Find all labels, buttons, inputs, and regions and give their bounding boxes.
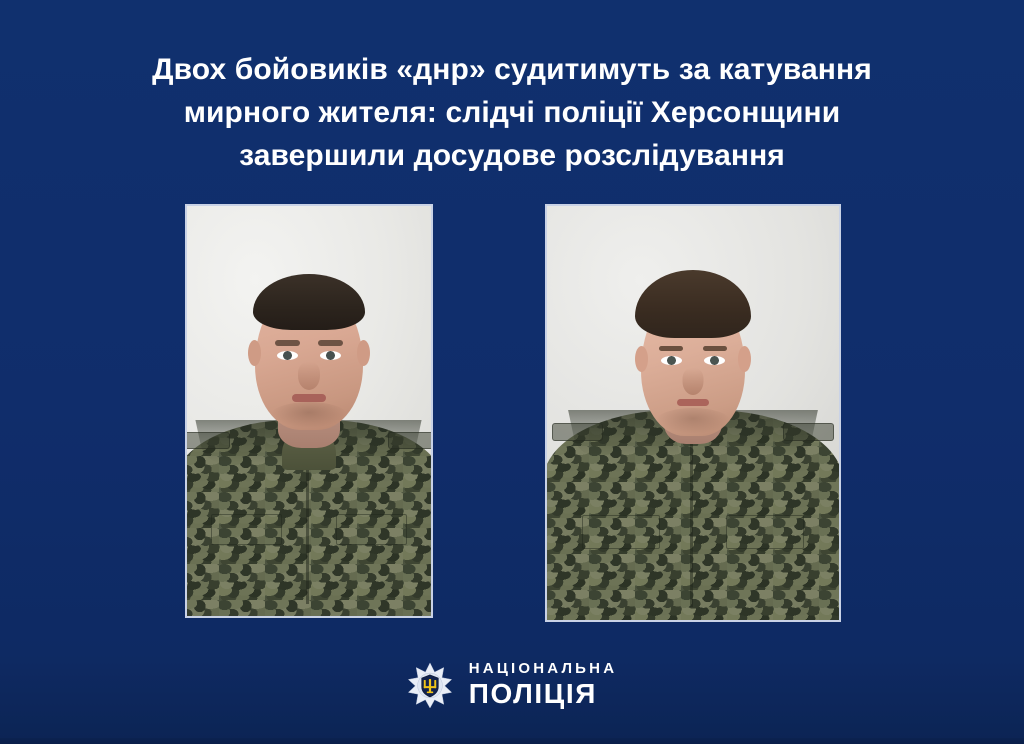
- eyebrow-left: [659, 346, 683, 351]
- suspect-photo-right: [545, 204, 841, 622]
- nose: [683, 368, 704, 395]
- eyebrow-left: [275, 340, 300, 346]
- jaw-shadow: [656, 408, 730, 434]
- ear-left: [248, 340, 261, 366]
- uniform-pocket-left: [582, 515, 660, 549]
- photo-right-content: [547, 206, 839, 620]
- suspect-photo-row: [0, 204, 1024, 624]
- national-police-logo: НАЦІОНАЛЬНА ПОЛІЦІЯ: [0, 661, 1024, 708]
- ear-right: [738, 346, 751, 372]
- police-star-badge-icon: [407, 662, 453, 708]
- suspect-photo-left: [185, 204, 433, 618]
- mouth: [677, 399, 709, 406]
- ear-right: [357, 340, 370, 366]
- jaw-shadow: [271, 402, 347, 428]
- eyebrow-right: [703, 346, 727, 351]
- mouth: [292, 394, 326, 402]
- poster-canvas: Двох бойовиків «днр» судитимуть за катув…: [0, 0, 1024, 744]
- headline-line-2: мирного жителя: слідчі поліції Херсонщин…: [78, 91, 946, 134]
- uniform-pocket-right: [726, 515, 804, 549]
- uniform-pocket-left: [211, 514, 282, 545]
- uniform-pocket-right: [336, 514, 407, 545]
- nose: [298, 362, 320, 390]
- eye-right: [704, 356, 725, 365]
- logo-line-natsionalna: НАЦІОНАЛЬНА: [469, 661, 617, 676]
- eye-right: [320, 351, 341, 360]
- eye-left: [661, 356, 682, 365]
- uniform-placket: [690, 427, 693, 608]
- logo-wordmark: НАЦІОНАЛЬНА ПОЛІЦІЯ: [469, 661, 617, 708]
- ear-left: [635, 346, 648, 372]
- logo-line-politsiya: ПОЛІЦІЯ: [469, 680, 617, 708]
- eyebrow-right: [318, 340, 343, 346]
- page-title: Двох бойовиків «днр» судитимуть за катув…: [78, 48, 946, 177]
- photo-left-content: [187, 206, 431, 616]
- bottom-band: [0, 738, 1024, 744]
- headline-line-1: Двох бойовиків «днр» судитимуть за катув…: [78, 48, 946, 91]
- headline-line-3: завершили досудове розслідування: [78, 134, 946, 177]
- eye-left: [277, 351, 298, 360]
